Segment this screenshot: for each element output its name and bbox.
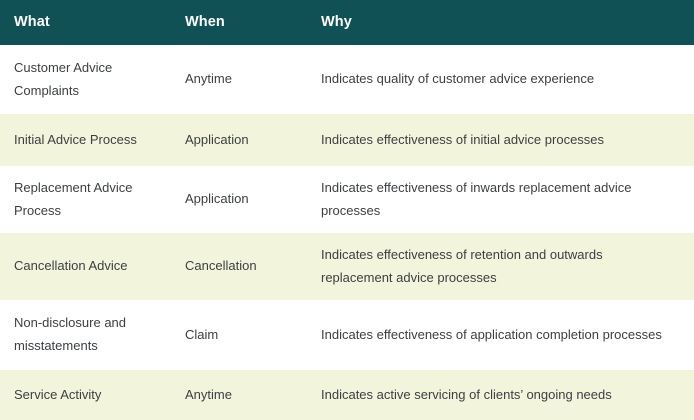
cell-why-text: Indicates effectiveness of inwards repla… bbox=[321, 177, 676, 223]
cell-what: Service Activity bbox=[0, 370, 172, 420]
kpi-table-container: What When Why Customer Advice Complaints… bbox=[0, 0, 694, 420]
cell-what-text: Service Activity bbox=[14, 384, 162, 407]
table-header: What When Why bbox=[0, 0, 694, 45]
cell-when-text: Application bbox=[185, 188, 296, 211]
cell-when: Anytime bbox=[172, 370, 306, 420]
table-row: Non-disclosure and misstatements Claim I… bbox=[0, 300, 694, 370]
cell-what-text: Customer Advice Complaints bbox=[14, 57, 162, 103]
cell-why: Indicates effectiveness of application c… bbox=[306, 300, 694, 370]
cell-why-text: Indicates active servicing of clients’ o… bbox=[321, 384, 676, 407]
cell-why-text: Indicates effectiveness of application c… bbox=[321, 324, 676, 347]
cell-when: Claim bbox=[172, 300, 306, 370]
cell-what-text: Cancellation Advice bbox=[14, 255, 162, 278]
cell-when-text: Application bbox=[185, 129, 296, 152]
column-header-what: What bbox=[0, 0, 172, 45]
cell-when-text: Cancellation bbox=[185, 255, 296, 278]
cell-when: Cancellation bbox=[172, 233, 306, 300]
cell-what: Non-disclosure and misstatements bbox=[0, 300, 172, 370]
cell-what-text: Non-disclosure and misstatements bbox=[14, 312, 162, 358]
cell-why: Indicates effectiveness of retention and… bbox=[306, 233, 694, 300]
kpi-table: What When Why Customer Advice Complaints… bbox=[0, 0, 694, 420]
column-header-when: When bbox=[172, 0, 306, 45]
table-row: Service Activity Anytime Indicates activ… bbox=[0, 370, 694, 420]
table-row: Customer Advice Complaints Anytime Indic… bbox=[0, 45, 694, 114]
table-row: Replacement Advice Process Application I… bbox=[0, 166, 694, 233]
cell-what-text: Initial Advice Process bbox=[14, 129, 162, 152]
column-header-why: Why bbox=[306, 0, 694, 45]
cell-when-text: Anytime bbox=[185, 68, 296, 91]
cell-what: Cancellation Advice bbox=[0, 233, 172, 300]
cell-why-text: Indicates effectiveness of retention and… bbox=[321, 244, 676, 290]
table-body: Customer Advice Complaints Anytime Indic… bbox=[0, 45, 694, 420]
cell-when: Application bbox=[172, 114, 306, 166]
table-row: Initial Advice Process Application Indic… bbox=[0, 114, 694, 166]
cell-what-text: Replacement Advice Process bbox=[14, 177, 162, 223]
cell-when: Application bbox=[172, 166, 306, 233]
cell-why: Indicates effectiveness of inwards repla… bbox=[306, 166, 694, 233]
table-row: Cancellation Advice Cancellation Indicat… bbox=[0, 233, 694, 300]
cell-when: Anytime bbox=[172, 45, 306, 114]
cell-why: Indicates quality of customer advice exp… bbox=[306, 45, 694, 114]
table-header-row: What When Why bbox=[0, 0, 694, 45]
cell-why-text: Indicates quality of customer advice exp… bbox=[321, 68, 676, 91]
cell-when-text: Anytime bbox=[185, 384, 296, 407]
cell-why: Indicates active servicing of clients’ o… bbox=[306, 370, 694, 420]
cell-what: Replacement Advice Process bbox=[0, 166, 172, 233]
cell-why-text: Indicates effectiveness of initial advic… bbox=[321, 129, 676, 152]
cell-when-text: Claim bbox=[185, 324, 296, 347]
cell-why: Indicates effectiveness of initial advic… bbox=[306, 114, 694, 166]
cell-what: Initial Advice Process bbox=[0, 114, 172, 166]
cell-what: Customer Advice Complaints bbox=[0, 45, 172, 114]
